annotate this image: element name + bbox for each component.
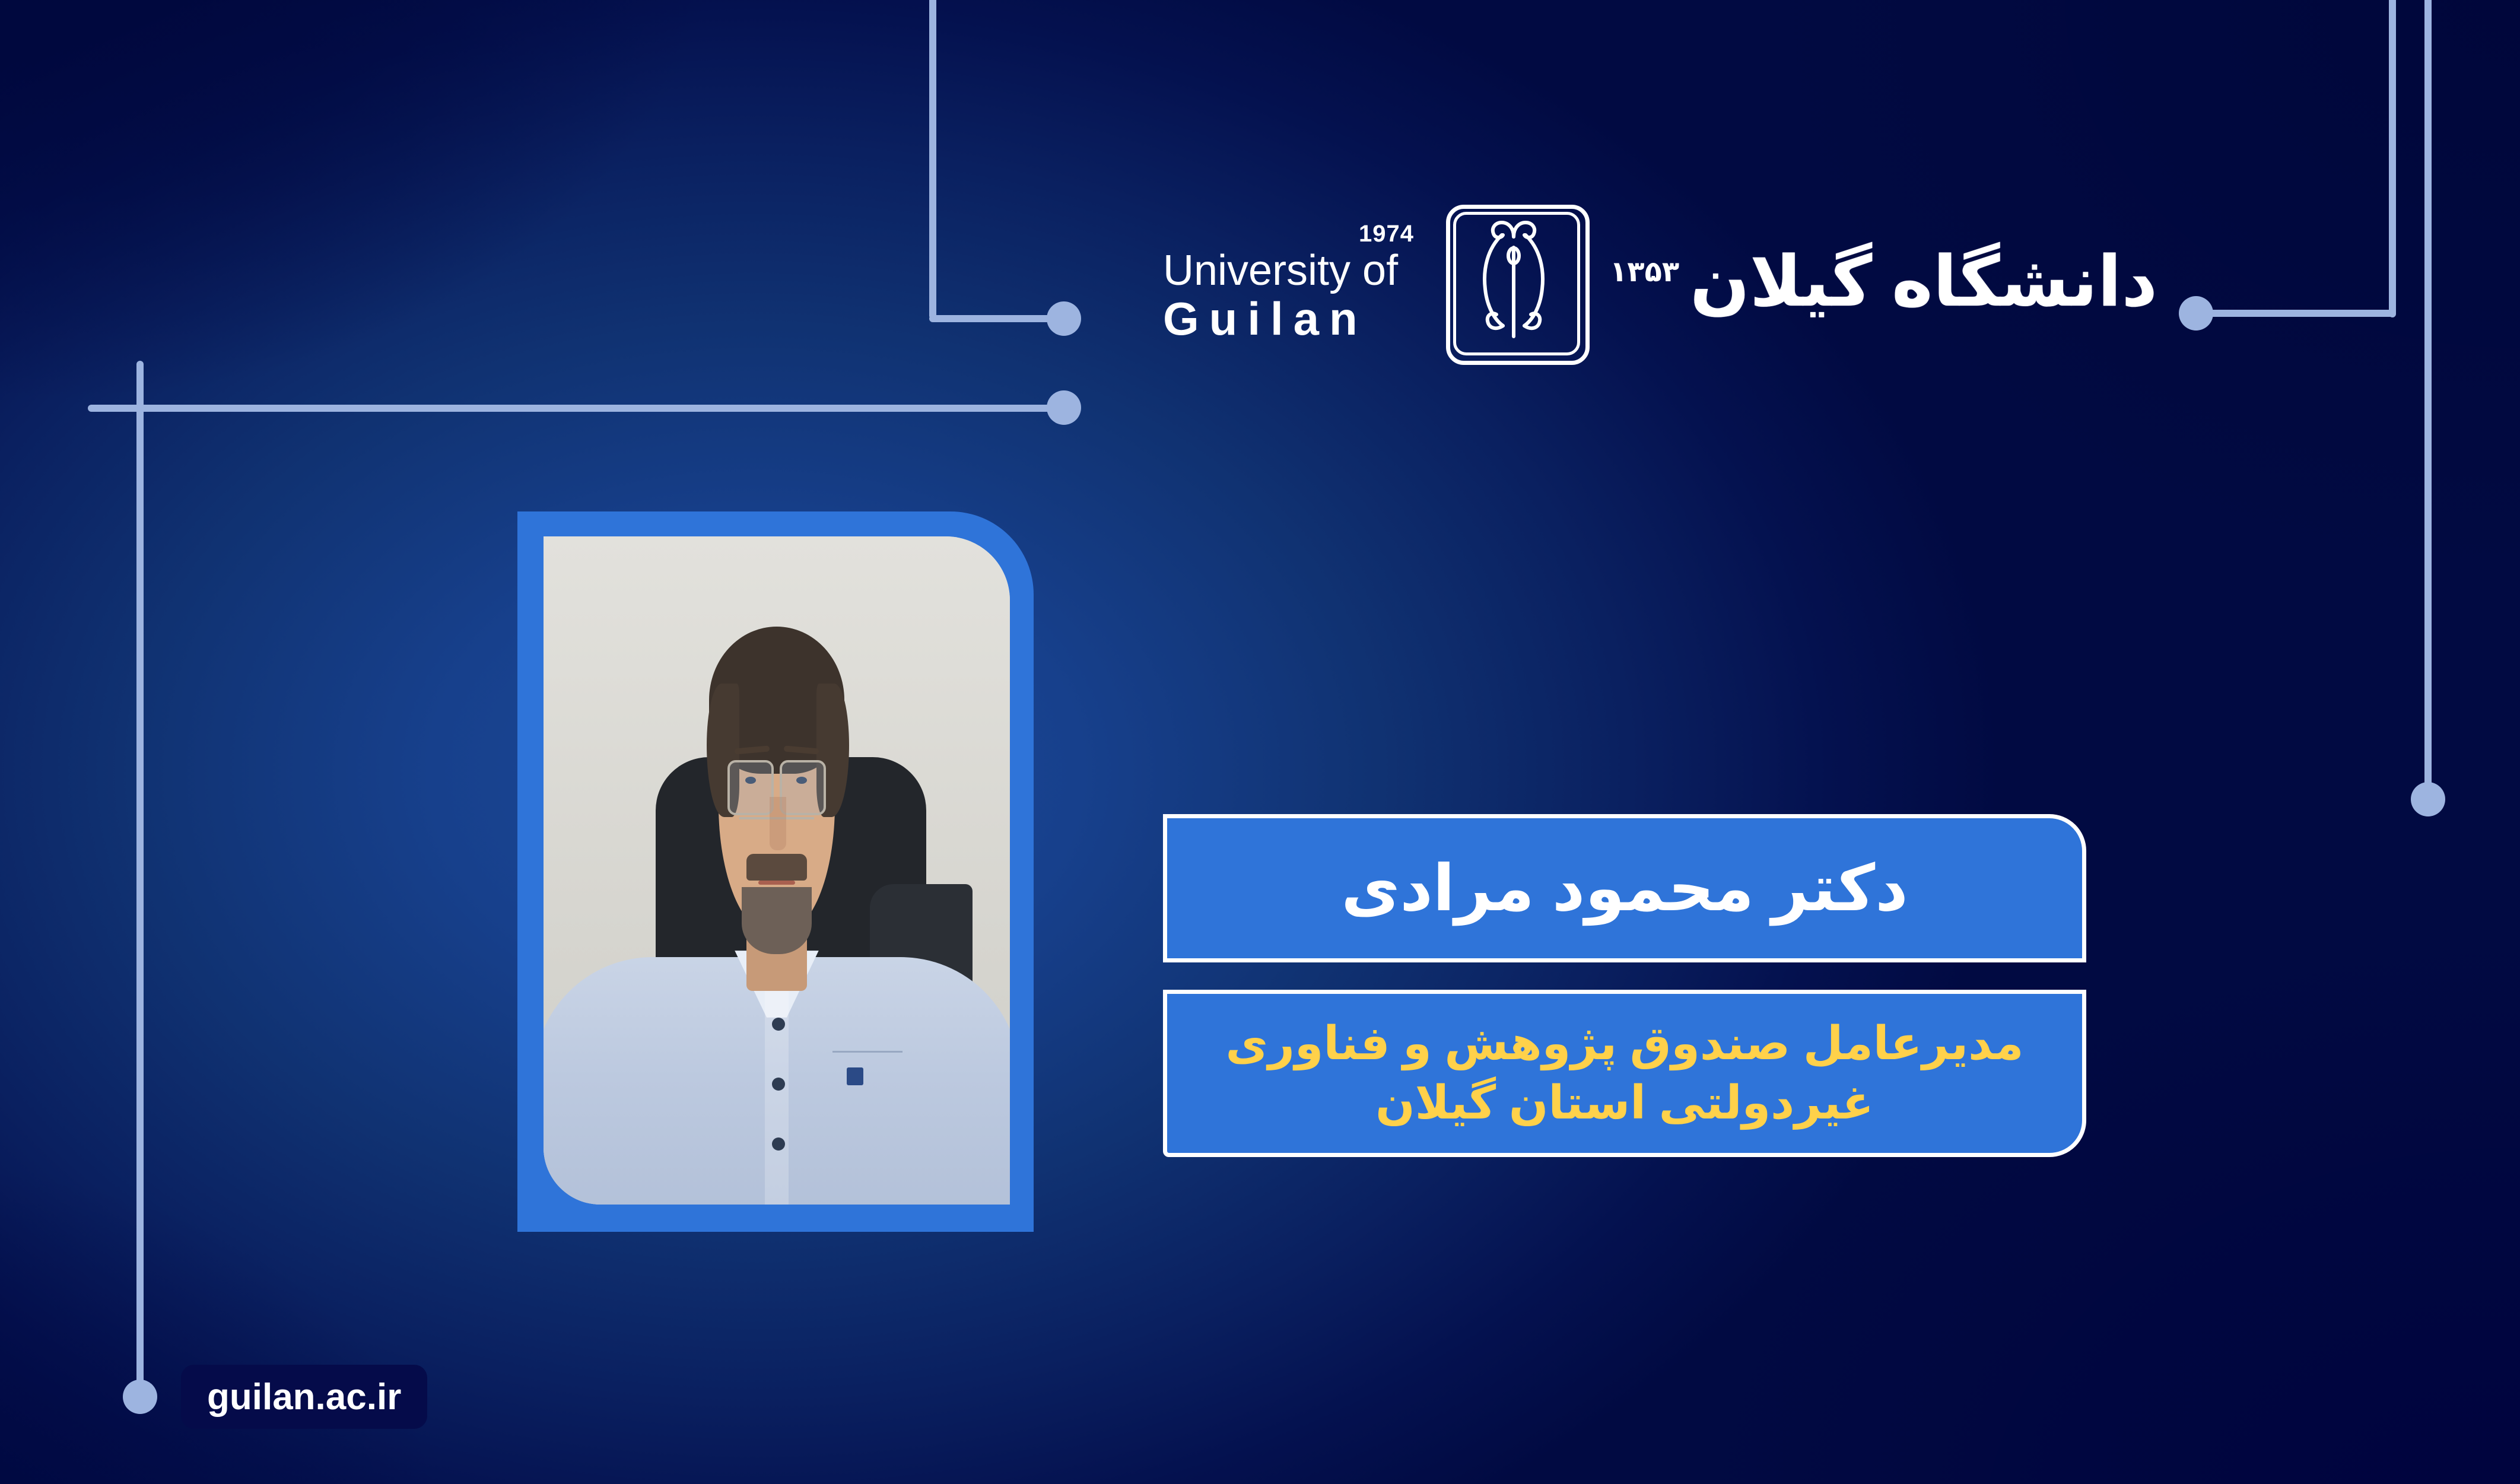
photo-shirt-button	[772, 1078, 785, 1091]
photo-shirt-button	[772, 1018, 785, 1031]
logo-name-persian: دانشگاه گیلان	[1690, 247, 2157, 317]
person-title: مدیرعامل صندوق پژوهش و فناوری غیردولتی ا…	[1203, 1014, 2046, 1133]
person-name-banner: دکتر محمود مرادی	[1163, 814, 2086, 962]
photo-beard	[742, 887, 812, 954]
website-url: guilan.ac.ir	[207, 1376, 401, 1418]
guilan-university-emblem-icon	[1425, 205, 1603, 359]
announcement-card: 1974 University of Guilan ۱۳	[0, 0, 2520, 1484]
left-long-accent-dot	[123, 1380, 157, 1414]
left-long-vertical-accent	[136, 361, 144, 1396]
logo-persian-text: ۱۳۵۳ دانشگاه گیلان	[1606, 247, 2157, 317]
right-long-accent-dot	[2411, 782, 2445, 816]
photo-lens-right	[780, 760, 825, 815]
logo-name-line-2: Guilan	[1163, 295, 1368, 342]
top-right-accent-dot	[2179, 296, 2213, 331]
top-right-vertical-accent	[2389, 0, 2396, 317]
photo-shirt-pocket	[832, 1051, 903, 1106]
person-title-banner: مدیرعامل صندوق پژوهش و فناوری غیردولتی ا…	[1163, 990, 2086, 1157]
photo-nose	[770, 797, 786, 850]
photo-shirt-placket	[765, 977, 788, 1205]
top-left-accent-dot	[1047, 390, 1081, 425]
photo-mustache	[746, 854, 807, 881]
university-logo: 1974 University of Guilan ۱۳	[1163, 196, 2089, 368]
photo-mouth	[758, 881, 796, 885]
person-name: دکتر محمود مرادی	[1341, 853, 1908, 924]
logo-name-line-1: University of	[1163, 249, 1398, 292]
website-badge[interactable]: guilan.ac.ir	[181, 1365, 427, 1429]
top-left-horizontal-accent	[88, 405, 1070, 412]
portrait-photo	[544, 536, 1010, 1205]
portrait-frame	[517, 511, 1034, 1232]
emblem-butterfly-glyph	[1453, 212, 1574, 349]
top-mid-accent-dot	[1047, 301, 1081, 336]
logo-founding-year-latin: 1974	[1359, 222, 1414, 246]
logo-english-text: 1974 University of Guilan	[1163, 222, 1414, 342]
logo-founding-year-persian: ۱۳۵۳	[1610, 255, 1679, 288]
photo-shirt-brand-tag	[847, 1067, 863, 1085]
top-right-horizontal-accent	[2199, 310, 2396, 317]
right-long-vertical-accent	[2424, 0, 2432, 792]
photo-lens-left	[727, 760, 773, 815]
top-mid-vertical-accent	[929, 0, 936, 319]
